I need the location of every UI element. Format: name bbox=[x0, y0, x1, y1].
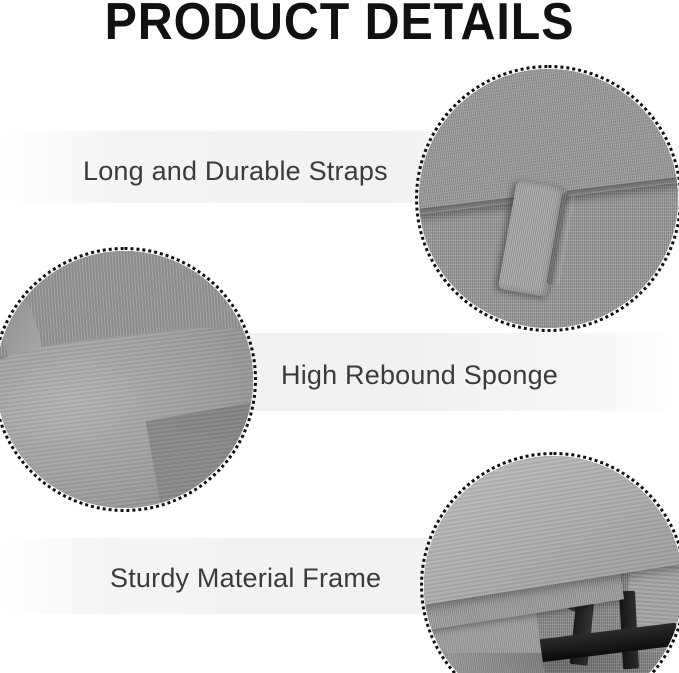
sofa-seat-cushion-photo bbox=[0, 251, 253, 508]
page-title: PRODUCT DETAILS bbox=[24, 0, 655, 48]
feature-label-straps: Long and Durable Straps bbox=[83, 158, 388, 185]
feature-label-sponge: High Rebound Sponge bbox=[281, 362, 558, 389]
sofa-strap-closeup-photo bbox=[419, 69, 678, 328]
feature-label-frame: Sturdy Material Frame bbox=[110, 565, 381, 592]
product-details-infographic: PRODUCT DETAILS Long and Durable Straps … bbox=[0, 0, 679, 673]
ottoman-ground-shadow bbox=[424, 653, 679, 673]
sofa-metal-frame-photo bbox=[424, 456, 679, 673]
